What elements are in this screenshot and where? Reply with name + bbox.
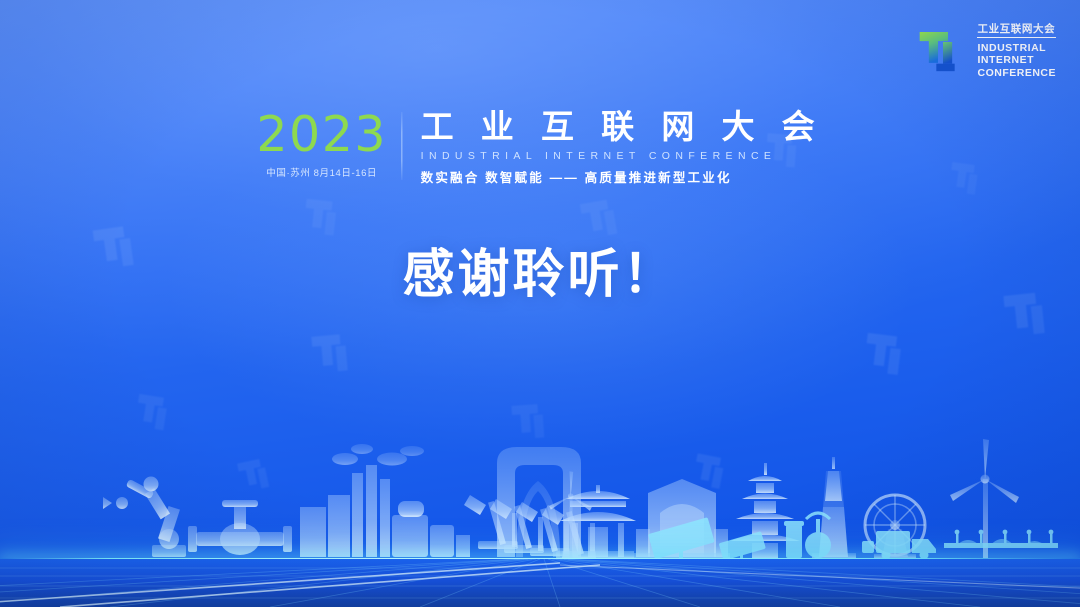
gate-of-the-orient-icon <box>497 447 596 557</box>
logo-english-name: INDUSTRIAL INTERNET CONFERENCE <box>977 42 1056 80</box>
event-title-chinese: 工 业 互 联 网 大 会 <box>421 110 824 145</box>
presentation-slide: 工业互联网大会 INDUSTRIAL INTERNET CONFERENCE 2… <box>0 0 1080 607</box>
city-skyline-illustration <box>0 429 1080 559</box>
ti-monogram-icon <box>918 27 968 77</box>
event-year-block: 2023 中国·苏州 8月14日-16日 <box>256 110 401 186</box>
ti-watermark-icon <box>232 452 279 499</box>
event-title-lockup: 2023 中国·苏州 8月14日-16日 工 业 互 联 网 大 会 INDUS… <box>256 110 823 186</box>
event-year: 2023 <box>256 110 387 159</box>
ti-watermark-icon <box>306 328 360 382</box>
pagoda-icon <box>730 463 800 558</box>
lattice-tower-icon <box>812 457 856 558</box>
horizon-glow-line <box>0 558 1080 562</box>
conference-logo-text: 工业互联网大会 INDUSTRIAL INTERNET CONFERENCE <box>977 24 1056 80</box>
wind-turbines-icon <box>549 439 1019 559</box>
logo-en-line-3: CONFERENCE <box>977 67 1056 80</box>
ti-watermark-icon <box>857 327 915 385</box>
event-tagline: 数实融合 数智赋能 —— 高质量推进新型工业化 <box>421 167 824 186</box>
exhibition-hall-icon <box>634 479 730 559</box>
ti-watermark-icon <box>943 157 988 202</box>
freight-truck-icon <box>862 531 936 559</box>
logo-en-line-2: INTERNET <box>977 54 1056 67</box>
conference-logo: 工业互联网大会 INDUSTRIAL INTERNET CONFERENCE <box>918 24 1056 80</box>
ferris-wheel-icon <box>865 495 925 558</box>
event-location-date: 中国·苏州 8月14日-16日 <box>266 165 377 179</box>
oil-derricks-icon <box>464 495 596 559</box>
event-title-english: INDUSTRIAL INTERNET CONFERENCE <box>421 150 824 162</box>
arch-bridge-icon <box>944 530 1058 548</box>
pipeline-valve-icon <box>188 500 292 555</box>
storage-tanks-icon <box>784 513 831 558</box>
perspective-grid-ground <box>0 559 1080 607</box>
event-title-block: 工 业 互 联 网 大 会 INDUSTRIAL INTERNET CONFER… <box>403 110 824 186</box>
logo-chinese-name: 工业互联网大会 <box>977 24 1056 38</box>
robotic-arm-icon <box>103 477 186 558</box>
headline-text: 感谢聆听！ <box>0 232 1080 307</box>
ti-watermark-icon <box>129 389 179 439</box>
solar-panels-icon <box>648 517 766 559</box>
ti-watermark-icon <box>686 448 735 497</box>
logo-en-line-1: INDUSTRIAL <box>977 42 1056 55</box>
factory-buildings-icon <box>300 444 470 557</box>
ti-watermark-icon <box>506 398 555 447</box>
chinese-pavilion-icon <box>560 485 636 558</box>
